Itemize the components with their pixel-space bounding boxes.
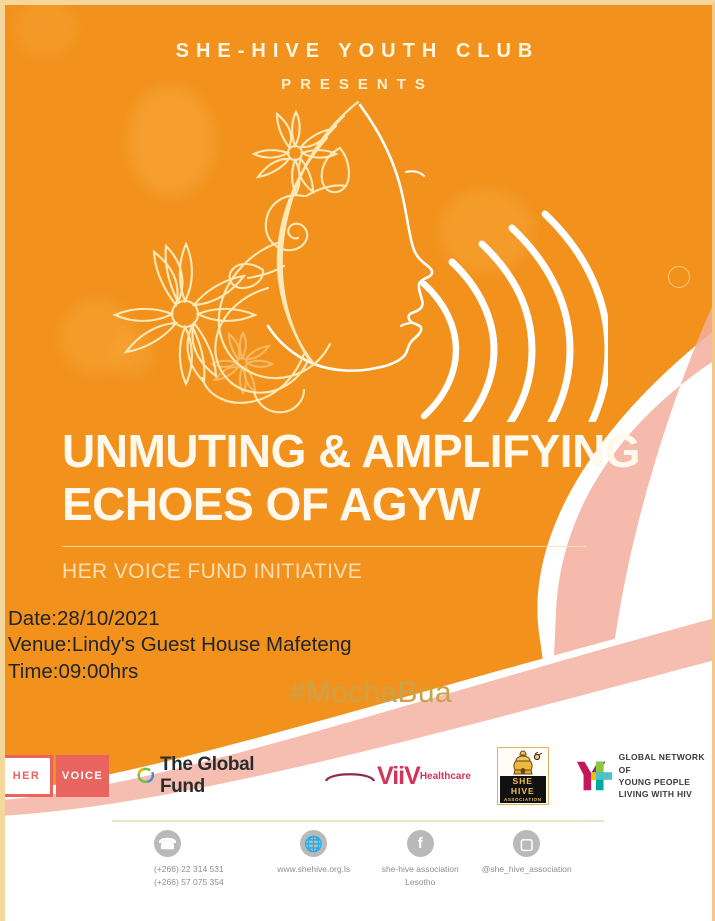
poster-subtitle: HER VOICE FUND INITIATIVE (62, 560, 672, 584)
phone-line-1: (+266) 22 314 531 (154, 863, 261, 876)
event-venue: Venue:Lindy's Guest House Mafeteng (8, 632, 352, 658)
website-line-1: www.shehive.org.ls (261, 863, 368, 876)
instagram-icon: ▢ (513, 830, 540, 857)
event-details: Date:28/10/2021 Venue:Lindy's Guest Hous… (8, 606, 352, 685)
beehive-icon (503, 750, 543, 776)
she-hive-association-logo: SHE HIVE ASSOCIATION (497, 747, 549, 805)
viiv-sub: Healthcare (420, 772, 471, 782)
global-fund-swirl-icon (135, 765, 156, 787)
viiv-word: ViiV (377, 764, 420, 789)
y-plus-line-3: LIVING WITH HIV (619, 788, 715, 800)
her-voice-word-voice: VOICE (56, 755, 109, 797)
poster-title-block: UNMUTING & AMPLIFYING ECHOES OF AGYW HER… (62, 425, 672, 584)
title-line-2: ECHOES OF AGYW (62, 478, 672, 531)
instagram-line-1: @she_hive_association (474, 863, 581, 876)
woman-profile-soundwave-illustration (108, 92, 608, 422)
she-hive-line-2: HIVE (500, 787, 546, 797)
contact-website[interactable]: 🌐 www.shehive.org.ls (261, 830, 368, 876)
contact-phone: ☎ (+266) 22 314 531 (+266) 57 075 354 (150, 830, 261, 889)
footer-divider (112, 820, 604, 822)
event-poster: SHE-HIVE YOUTH CLUB PRESENTS (0, 0, 715, 921)
facebook-line-1: she-hive association (367, 863, 474, 876)
she-hive-line-3: ASSOCIATION (500, 797, 546, 802)
global-fund-logo: The Global Fund (135, 754, 297, 798)
event-date: Date:28/10/2021 (8, 606, 352, 632)
y-plus-logo: GLOBAL NETWORK OF YOUNG PEOPLE LIVING WI… (575, 751, 715, 800)
y-plus-icon (575, 757, 613, 795)
facebook-line-2: Lesotho (367, 876, 474, 889)
title-divider (62, 546, 586, 548)
title-line-1: UNMUTING & AMPLIFYING (62, 425, 672, 478)
club-name: SHE-HIVE YOUTH CLUB (0, 40, 715, 62)
y-plus-line-1: GLOBAL NETWORK OF (619, 751, 715, 776)
her-voice-logo: HER VOICE (0, 755, 109, 797)
phone-icon: ☎ (154, 830, 181, 857)
facebook-icon: f (407, 830, 434, 857)
her-voice-word-her: HER (0, 755, 53, 797)
phone-line-2: (+266) 57 075 354 (154, 876, 261, 889)
y-plus-line-2: YOUNG PEOPLE (619, 776, 715, 788)
contact-footer: ☎ (+266) 22 314 531 (+266) 57 075 354 🌐 … (150, 830, 580, 889)
global-fund-label: The Global Fund (160, 754, 297, 798)
globe-icon: 🌐 (300, 830, 327, 857)
viiv-healthcare-logo: ViiV Healthcare (323, 764, 471, 789)
presents-label: PRESENTS (0, 76, 715, 93)
sponsor-logo-row: HER VOICE The Global Fund ViiV Healthcar… (0, 745, 715, 807)
poster-header: SHE-HIVE YOUTH CLUB PRESENTS (0, 0, 715, 93)
contact-facebook[interactable]: f she-hive association Lesotho (367, 830, 474, 889)
event-hashtag: #MochaBua (289, 676, 452, 710)
contact-instagram[interactable]: ▢ @she_hive_association (474, 830, 581, 876)
viiv-arc-icon (323, 770, 377, 782)
